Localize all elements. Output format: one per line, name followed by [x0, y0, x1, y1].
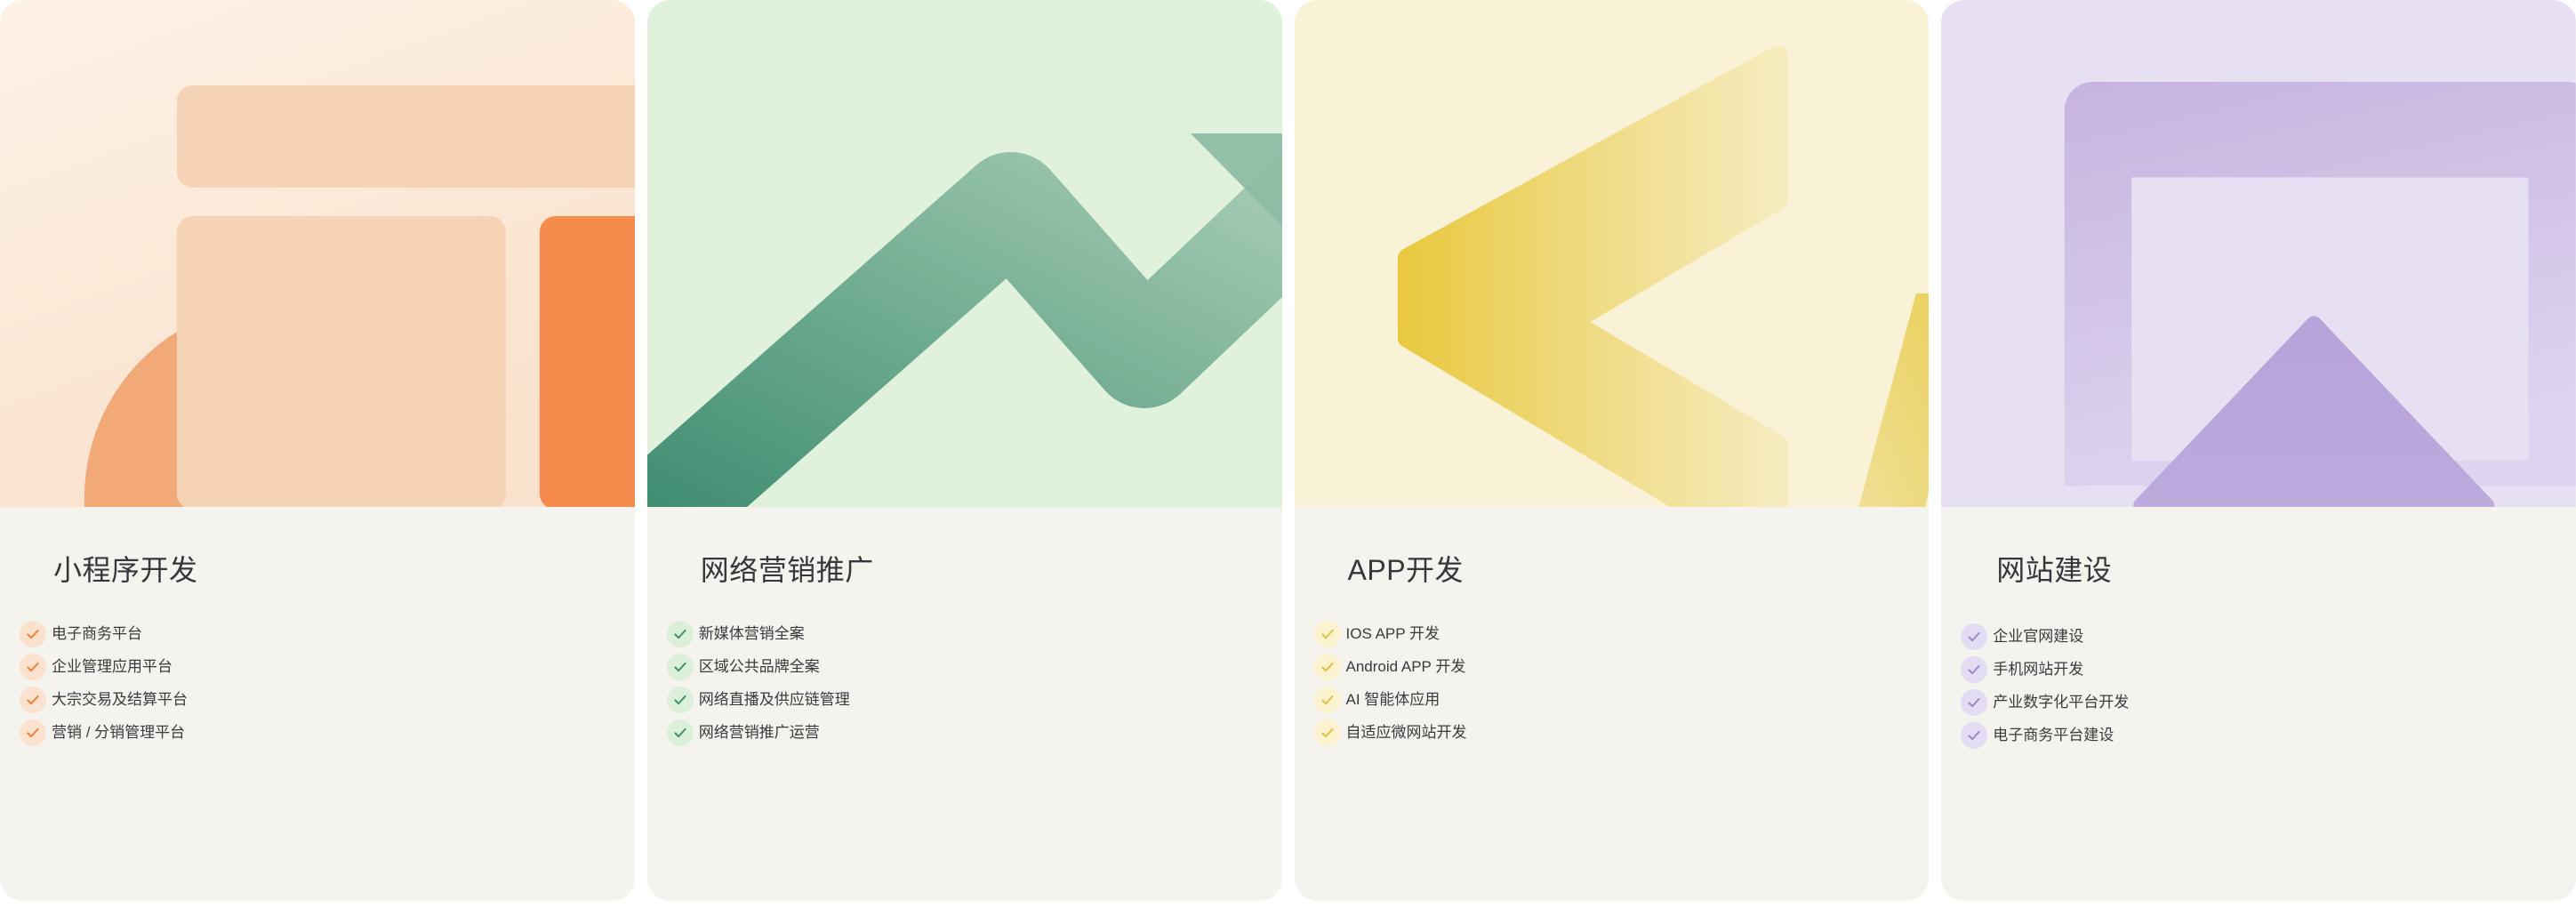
- check-icon: [20, 687, 46, 713]
- check-icon: [667, 654, 694, 680]
- check-icon: [667, 687, 694, 713]
- feature-label: 区域公共品牌全案: [699, 658, 820, 676]
- card-title: 网络营销推广: [701, 553, 1282, 587]
- monitor-illustration-svg: [1941, 0, 2576, 507]
- check-icon: [20, 719, 46, 746]
- feature-label: 网络营销推广运营: [699, 724, 820, 742]
- feature-list: IOS APP 开发 Android APP 开发 AI 智能体应用: [1295, 617, 1930, 749]
- service-card-network-marketing[interactable]: 网络营销推广 新媒体营销全案 区域公共品牌全案: [647, 0, 1282, 901]
- check-icon: [1961, 656, 1987, 683]
- service-card-mini-program[interactable]: 小程序开发 电子商务平台 企业管理应用平台: [0, 0, 635, 901]
- check-icon: [1314, 687, 1341, 713]
- trending-up-arrow-illustration: [647, 0, 1282, 507]
- check-icon: [667, 719, 694, 746]
- check-icon: [1314, 719, 1341, 746]
- monitor-screen-illustration: [1941, 0, 2576, 507]
- feature-item[interactable]: 大宗交易及结算平台: [20, 683, 635, 716]
- feature-item[interactable]: 手机网站开发: [1961, 653, 2576, 686]
- feature-label: AI 智能体应用: [1346, 691, 1440, 709]
- service-card-app-development[interactable]: APP开发 IOS APP 开发 Android APP 开发: [1295, 0, 1930, 901]
- feature-list: 电子商务平台 企业管理应用平台 大宗交易及结算平台: [0, 617, 635, 749]
- mini-program-illustration-svg: [0, 0, 635, 507]
- code-bracket-illustration-svg: [1295, 0, 1930, 507]
- check-icon: [1314, 621, 1341, 647]
- card-title: APP开发: [1348, 553, 1930, 587]
- feature-label: 大宗交易及结算平台: [52, 691, 188, 709]
- feature-label: 电子商务平台: [52, 625, 142, 643]
- feature-label: 产业数字化平台开发: [1993, 694, 2129, 711]
- feature-label: 企业管理应用平台: [52, 658, 173, 676]
- card-title: 小程序开发: [53, 553, 635, 587]
- card-body: 网站建设 企业官网建设 手机网站开发: [1941, 507, 2576, 901]
- feature-item[interactable]: 企业官网建设: [1961, 620, 2576, 653]
- check-icon: [1961, 689, 1987, 716]
- feature-label: 新媒体营销全案: [699, 625, 805, 643]
- feature-label: 自适应微网站开发: [1346, 724, 1467, 742]
- feature-item[interactable]: 企业管理应用平台: [20, 650, 635, 683]
- feature-item[interactable]: 营销 / 分销管理平台: [20, 716, 635, 749]
- mini-program-layout-illustration: [0, 0, 635, 507]
- check-icon: [20, 621, 46, 647]
- service-cards-row: 小程序开发 电子商务平台 企业管理应用平台: [0, 0, 2576, 908]
- card-title: 网站建设: [1996, 553, 2576, 587]
- check-icon: [1961, 623, 1987, 650]
- code-bracket-illustration: [1295, 0, 1930, 507]
- service-card-website-construction[interactable]: 网站建设 企业官网建设 手机网站开发: [1941, 0, 2576, 901]
- feature-list: 企业官网建设 手机网站开发 产业数字化平台开发: [1941, 617, 2576, 751]
- check-icon: [20, 654, 46, 680]
- feature-label: 营销 / 分销管理平台: [52, 724, 185, 742]
- check-icon: [1961, 722, 1987, 749]
- feature-label: 手机网站开发: [1993, 661, 2083, 679]
- card-body: APP开发 IOS APP 开发 Android APP 开发: [1295, 507, 1930, 901]
- feature-item[interactable]: Android APP 开发: [1314, 650, 1930, 683]
- feature-item[interactable]: 产业数字化平台开发: [1961, 686, 2576, 719]
- card-body: 小程序开发 电子商务平台 企业管理应用平台: [0, 507, 635, 901]
- trending-up-illustration-svg: [647, 0, 1282, 507]
- feature-label: 电子商务平台建设: [1993, 727, 2114, 744]
- feature-item[interactable]: 网络营销推广运营: [667, 716, 1282, 749]
- feature-item[interactable]: 区域公共品牌全案: [667, 650, 1282, 683]
- feature-item[interactable]: 网络直播及供应链管理: [667, 683, 1282, 716]
- feature-item[interactable]: 电子商务平台建设: [1961, 719, 2576, 751]
- check-icon: [667, 621, 694, 647]
- feature-item[interactable]: 自适应微网站开发: [1314, 716, 1930, 749]
- card-body: 网络营销推广 新媒体营销全案 区域公共品牌全案: [647, 507, 1282, 901]
- feature-item[interactable]: AI 智能体应用: [1314, 683, 1930, 716]
- feature-label: 企业官网建设: [1993, 628, 2083, 646]
- feature-label: 网络直播及供应链管理: [699, 691, 850, 709]
- feature-label: IOS APP 开发: [1346, 625, 1440, 643]
- feature-item[interactable]: IOS APP 开发: [1314, 617, 1930, 650]
- feature-label: Android APP 开发: [1346, 658, 1466, 676]
- feature-item[interactable]: 新媒体营销全案: [667, 617, 1282, 650]
- check-icon: [1314, 654, 1341, 680]
- feature-item[interactable]: 电子商务平台: [20, 617, 635, 650]
- feature-list: 新媒体营销全案 区域公共品牌全案 网络直播及供应链管理: [647, 617, 1282, 749]
